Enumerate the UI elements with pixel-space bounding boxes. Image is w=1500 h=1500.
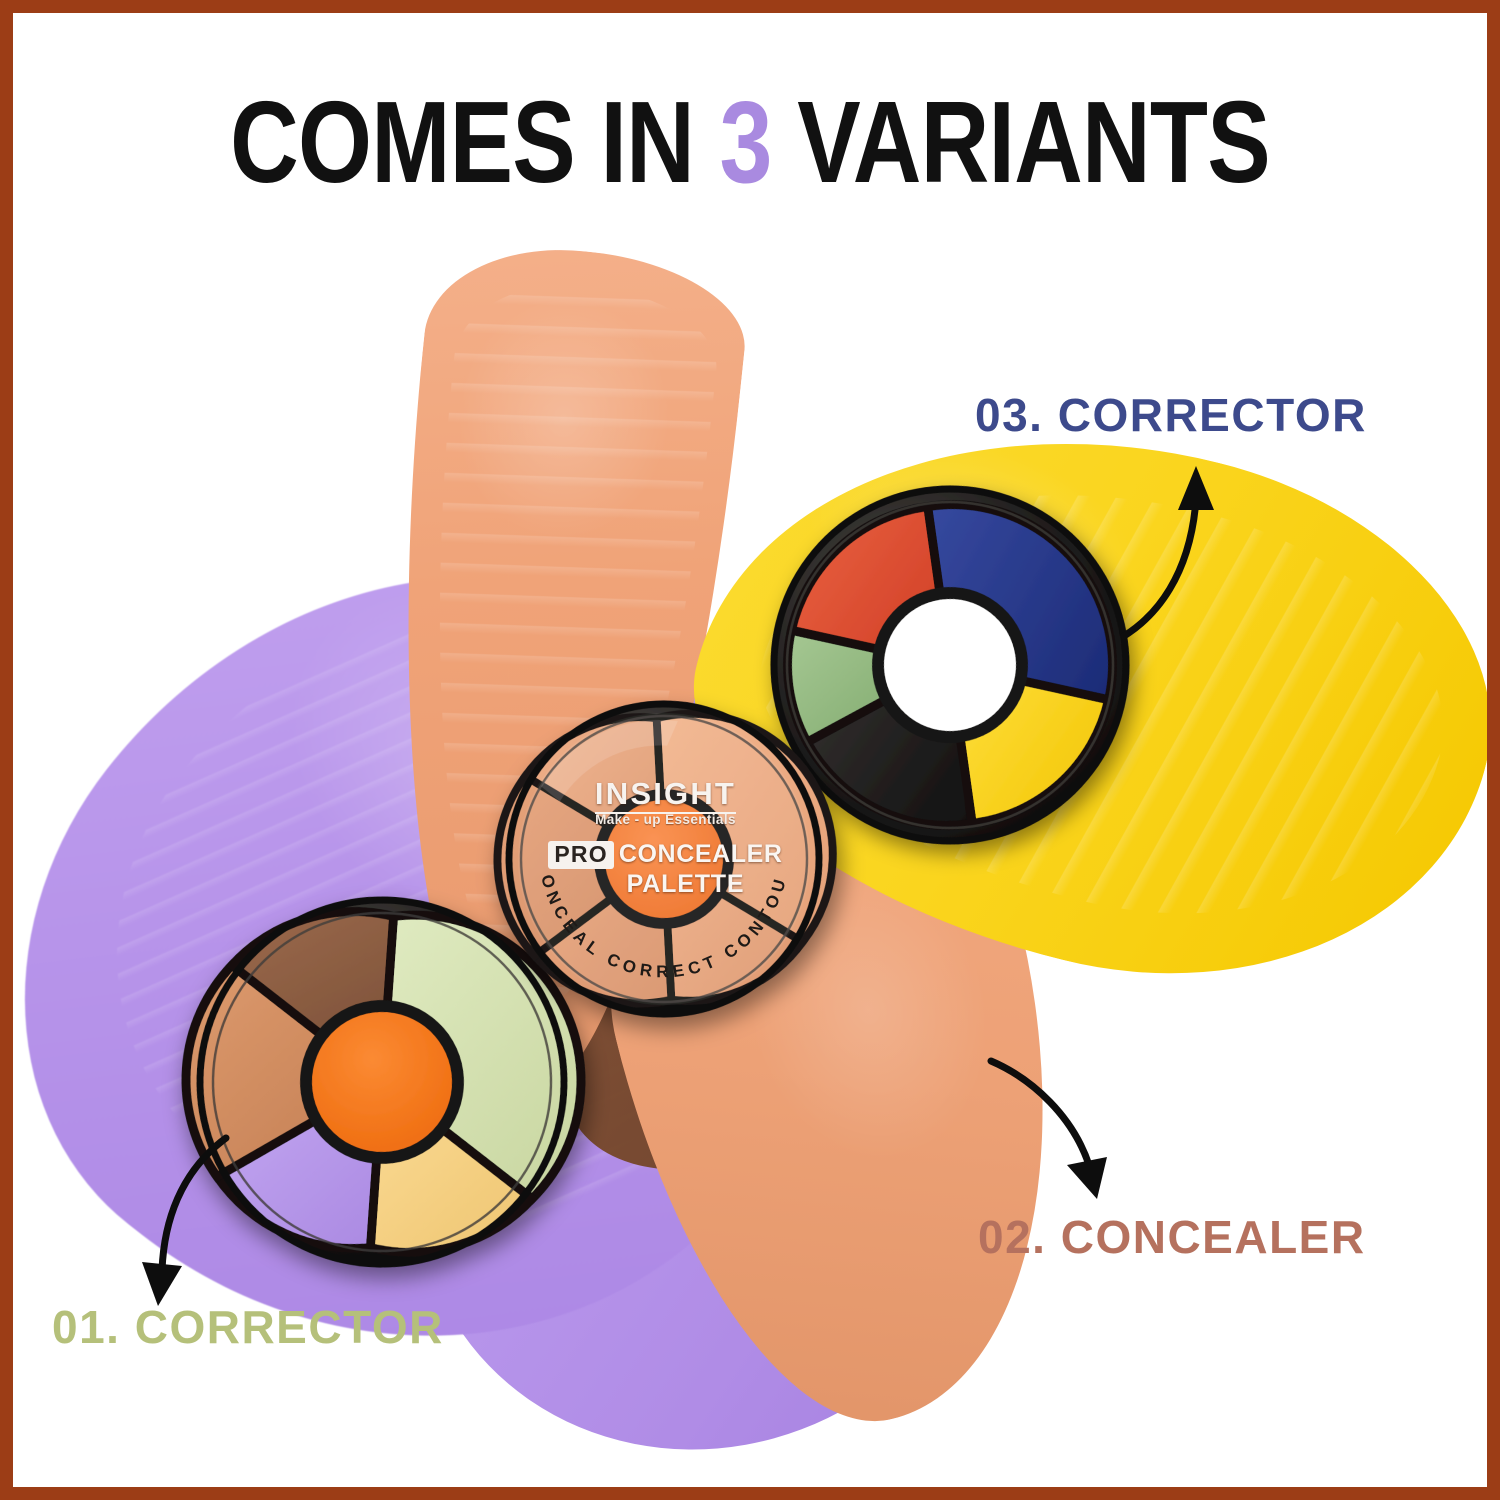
arrow-to-concealer-02 xyxy=(985,1045,1155,1225)
arrow-to-corrector-03 xyxy=(1110,440,1300,650)
palette-wheel-02-concealer[interactable] xyxy=(505,700,823,1018)
page-title: COMES IN 3 VARIANTS xyxy=(135,84,1365,200)
variant-label-02: 02. CONCEALER xyxy=(978,1210,1366,1264)
title-part-before: COMES IN xyxy=(230,77,719,207)
palette-wheel-03-corrector[interactable] xyxy=(770,485,1130,845)
title-part-after: VARIANTS xyxy=(772,77,1270,207)
title-accent-number: 3 xyxy=(720,77,772,207)
variant-label-03: 03. CORRECTOR xyxy=(975,388,1367,442)
promo-graphic: COMES IN 3 VARIANTS xyxy=(0,0,1500,1500)
variant-label-01: 01. CORRECTOR xyxy=(52,1300,444,1354)
